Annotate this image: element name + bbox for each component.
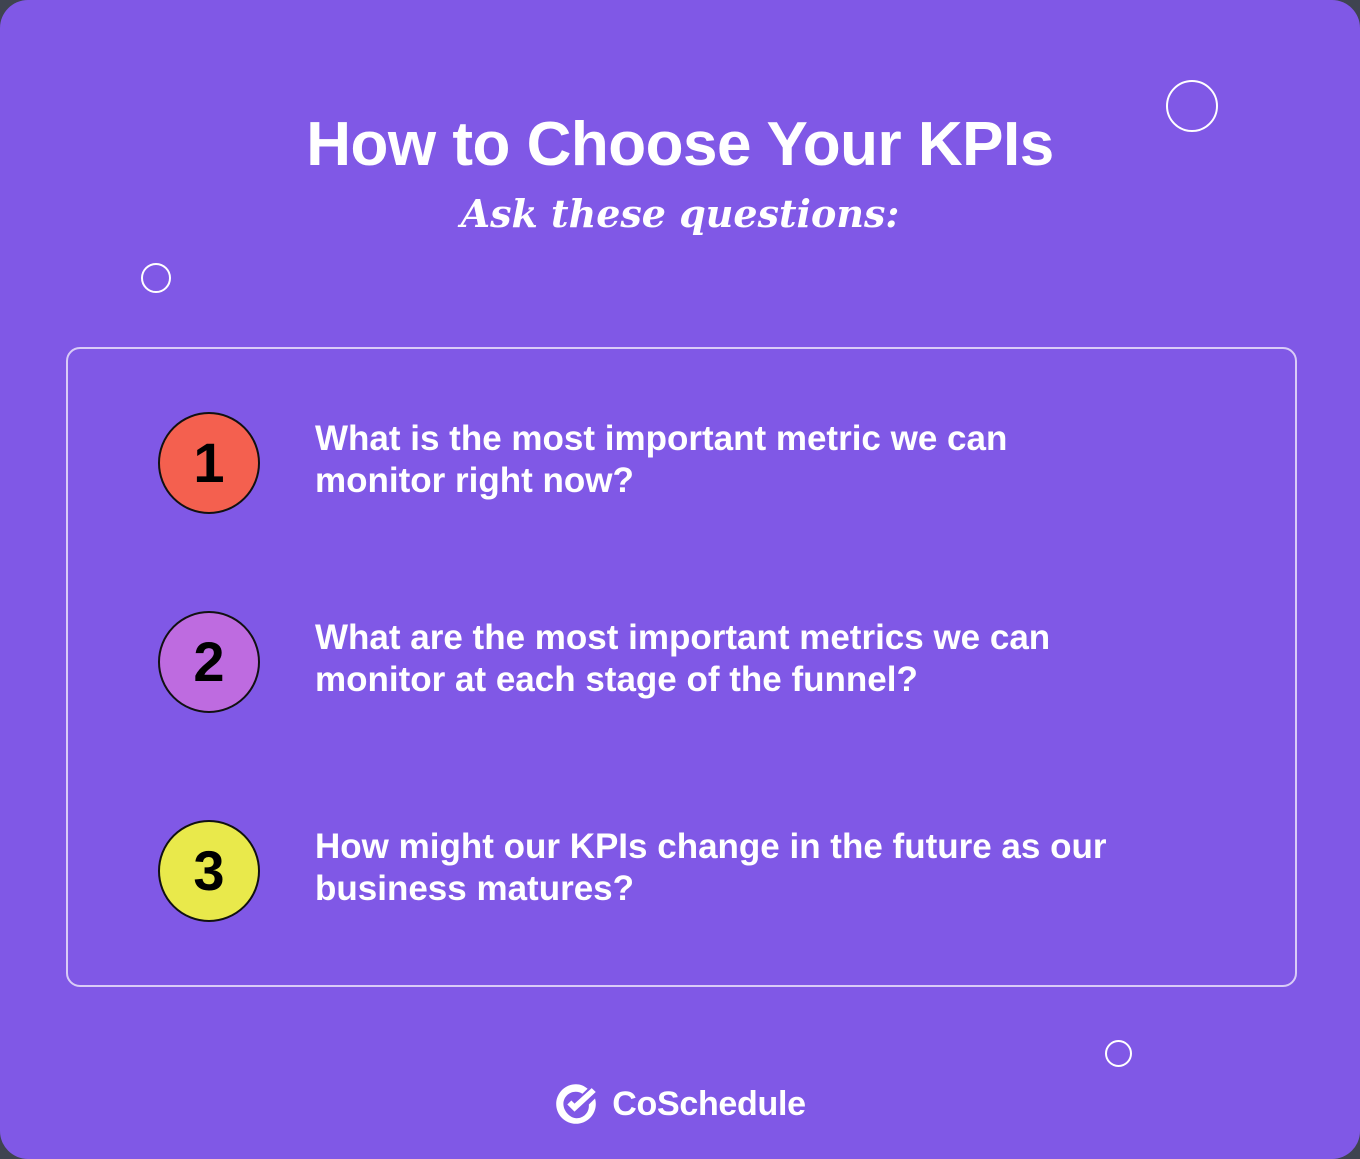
brand-name: CoSchedule: [612, 1087, 805, 1121]
question-number-1: 1: [193, 435, 224, 491]
question-text-2: What are the most important metrics we c…: [315, 617, 1145, 701]
question-number-3: 3: [193, 843, 224, 899]
list-item: 1 What is the most important metric we c…: [158, 412, 1218, 514]
infographic-canvas: How to Choose Your KPIs Ask these questi…: [0, 0, 1360, 1159]
questions-card: 1 What is the most important metric we c…: [66, 347, 1297, 987]
question-badge-3: 3: [158, 820, 260, 922]
list-item: 3 How might our KPIs change in the futur…: [158, 820, 1218, 922]
question-text-3: How might our KPIs change in the future …: [315, 826, 1145, 910]
decorative-circle-upper-left: [141, 263, 171, 293]
header: How to Choose Your KPIs Ask these questi…: [0, 112, 1360, 235]
coschedule-check-icon: [554, 1082, 598, 1126]
decorative-circle-bottom-right: [1105, 1040, 1132, 1067]
page-title: How to Choose Your KPIs: [0, 112, 1360, 177]
question-text-1: What is the most important metric we can…: [315, 418, 1145, 502]
questions-list: 1 What is the most important metric we c…: [68, 349, 1295, 985]
question-number-2: 2: [193, 634, 224, 690]
question-badge-2: 2: [158, 611, 260, 713]
footer-branding: CoSchedule: [0, 1082, 1360, 1126]
question-badge-1: 1: [158, 412, 260, 514]
list-item: 2 What are the most important metrics we…: [158, 611, 1218, 713]
page-subtitle: Ask these questions:: [0, 193, 1360, 235]
